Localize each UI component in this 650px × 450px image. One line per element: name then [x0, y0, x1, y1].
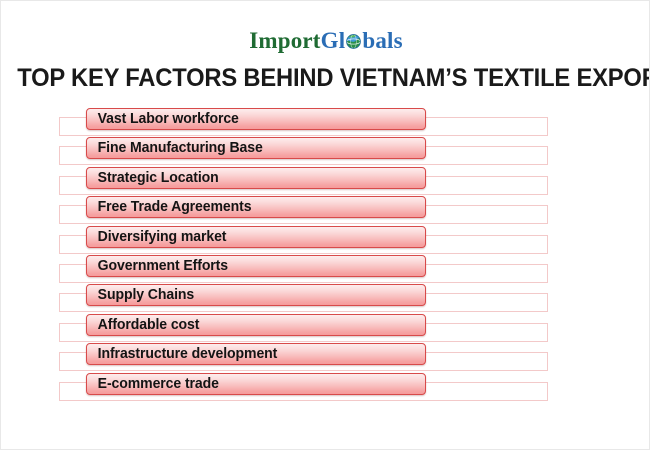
slide-canvas: ImportGl bals TOP KEY FACTORS BEHIND VIE… — [0, 0, 650, 450]
list-item-label: Affordable cost — [87, 317, 199, 333]
globe-icon — [345, 31, 362, 48]
brand-logo: ImportGl bals — [1, 29, 650, 52]
list-item-pill[interactable]: Affordable cost — [86, 314, 426, 336]
list-item-label: Supply Chains — [87, 287, 194, 303]
list-item-pill[interactable]: Supply Chains — [86, 284, 426, 306]
list-item-pill[interactable]: E-commerce trade — [86, 373, 426, 395]
brand-name-globals-suffix: bals — [362, 28, 402, 53]
list-item-label: Infrastructure development — [87, 346, 277, 362]
list-item[interactable]: Government Efforts — [1, 255, 650, 284]
brand-name-globals-prefix: Gl — [321, 28, 346, 53]
list-item-pill[interactable]: Strategic Location — [86, 167, 426, 189]
list-item[interactable]: E-commerce trade — [1, 373, 650, 402]
list-item-label: Strategic Location — [87, 170, 219, 186]
list-item[interactable]: Affordable cost — [1, 314, 650, 343]
list-item-label: E-commerce trade — [87, 376, 219, 392]
brand-logo-text: ImportGl bals — [249, 29, 403, 52]
list-item-label: Government Efforts — [87, 258, 228, 274]
list-item-pill[interactable]: Infrastructure development — [86, 343, 426, 365]
brand-name-import: Import — [249, 28, 320, 53]
factor-list: Vast Labor workforce Fine Manufacturing … — [1, 108, 650, 402]
list-item[interactable]: Infrastructure development — [1, 343, 650, 372]
list-item-pill[interactable]: Free Trade Agreements — [86, 196, 426, 218]
list-item-label: Free Trade Agreements — [87, 199, 251, 215]
list-item-label: Fine Manufacturing Base — [87, 140, 263, 156]
list-item-label: Vast Labor workforce — [87, 111, 239, 127]
list-item[interactable]: Supply Chains — [1, 284, 650, 313]
list-item[interactable]: Diversifying market — [1, 226, 650, 255]
list-item[interactable]: Strategic Location — [1, 167, 650, 196]
list-item[interactable]: Vast Labor workforce — [1, 108, 650, 137]
page-title: TOP KEY FACTORS BEHIND VIETNAM’S TEXTILE… — [17, 65, 635, 91]
list-item-pill[interactable]: Government Efforts — [86, 255, 426, 277]
list-item-label: Diversifying market — [87, 229, 226, 245]
list-item[interactable]: Free Trade Agreements — [1, 196, 650, 225]
list-item[interactable]: Fine Manufacturing Base — [1, 137, 650, 166]
list-item-pill[interactable]: Diversifying market — [86, 226, 426, 248]
list-item-pill[interactable]: Vast Labor workforce — [86, 108, 426, 130]
list-item-pill[interactable]: Fine Manufacturing Base — [86, 137, 426, 159]
